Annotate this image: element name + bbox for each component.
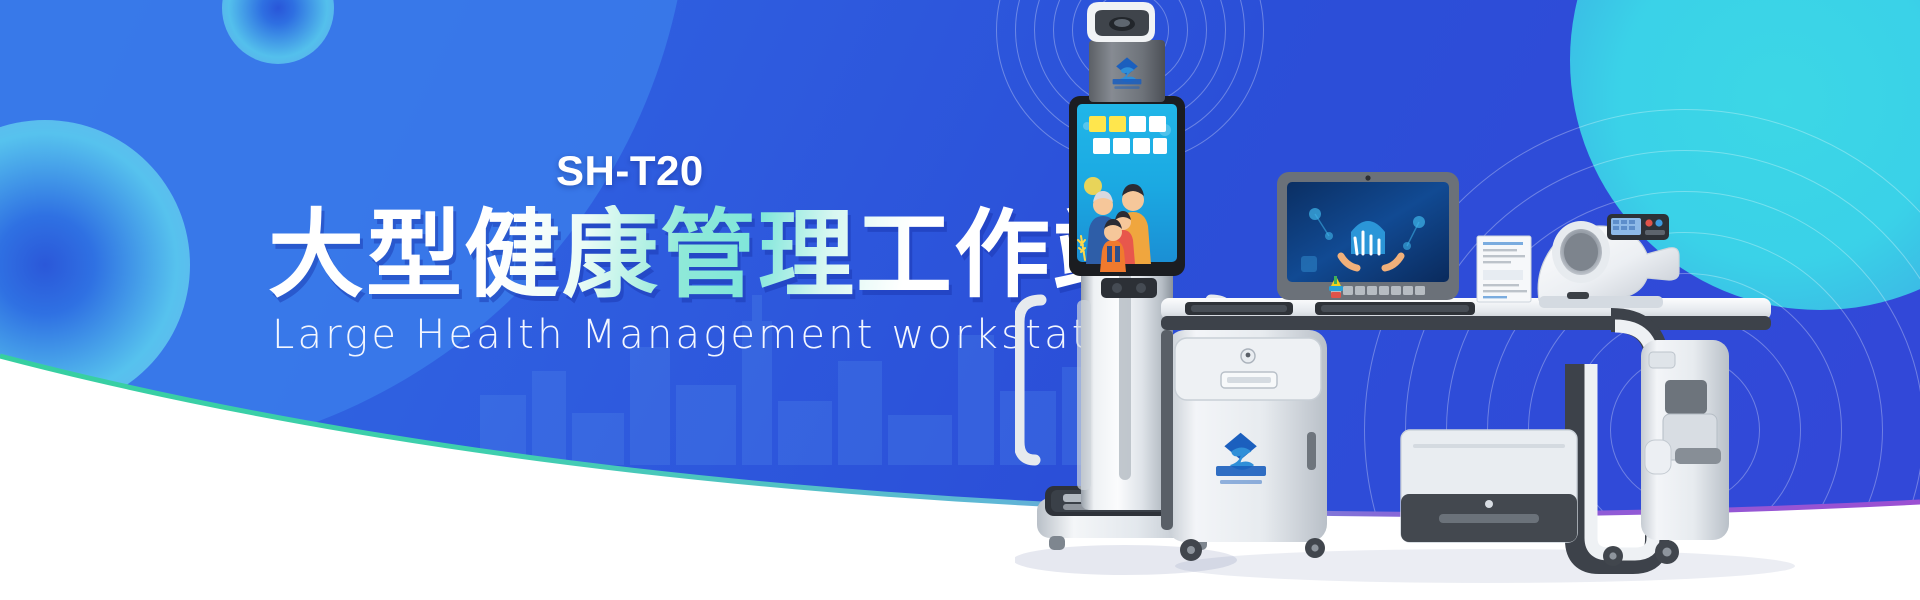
product-image <box>1015 0 1920 600</box>
health-report-sheet <box>1477 236 1531 302</box>
report-printer <box>1401 430 1577 542</box>
model-code: SH-T20 <box>556 150 704 192</box>
blood-pressure-monitor <box>1538 214 1679 308</box>
desk-unit <box>1161 172 1795 583</box>
desk-right-leg <box>1577 320 1729 566</box>
banner-text-block: SH-T20 大型健康管理工作站 Large Health Management… <box>0 0 1080 600</box>
workstation-illustration <box>1015 0 1920 600</box>
product-banner: SH-T20 大型健康管理工作站 Large Health Management… <box>0 0 1920 600</box>
desk-cabinet <box>1161 330 1327 561</box>
desk-laptop <box>1277 172 1459 300</box>
